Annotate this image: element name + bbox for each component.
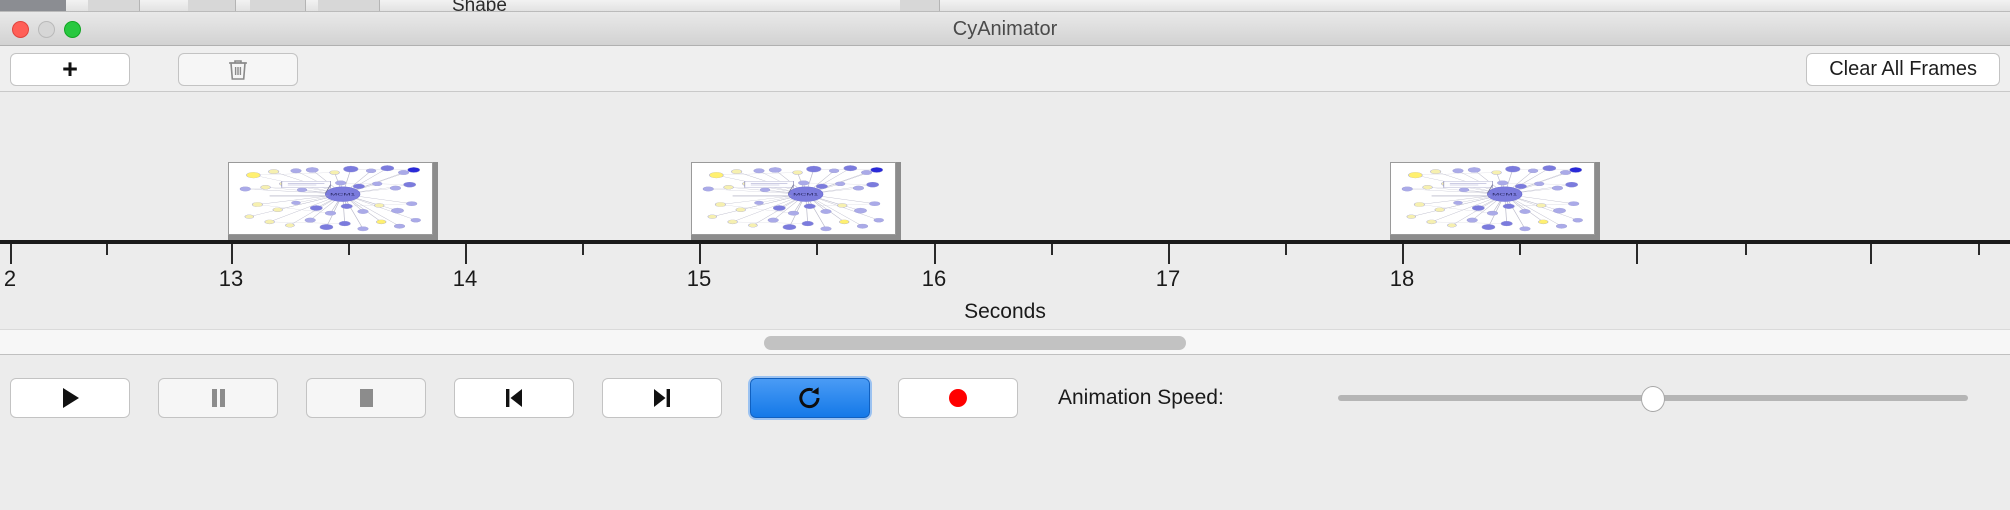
axis-title: Seconds xyxy=(0,300,2010,324)
network-graph-icon: MCM1 xyxy=(692,163,895,234)
ruler-tick-minor xyxy=(582,244,584,255)
ruler-tick-major xyxy=(1870,244,1872,264)
timeline-frame[interactable]: MCM1 xyxy=(691,162,901,240)
ruler-tick-major xyxy=(231,244,233,264)
timeline-frame[interactable]: MCM1 xyxy=(228,162,438,240)
skip-end-button[interactable] xyxy=(602,378,722,418)
time-ruler[interactable]: 2131415161718 Seconds xyxy=(0,240,2010,329)
ruler-tick-major xyxy=(1402,244,1404,264)
play-button[interactable] xyxy=(10,378,130,418)
play-icon xyxy=(57,385,83,411)
ruler-tick-major xyxy=(465,244,467,264)
background-window-label: Shape xyxy=(452,0,507,12)
svg-text:MCM1: MCM1 xyxy=(1492,193,1518,197)
window-title: CyAnimator xyxy=(0,12,2010,46)
horizontal-scrollbar[interactable] xyxy=(0,329,2010,355)
ruler-baseline xyxy=(0,240,2010,244)
ruler-tick-minor xyxy=(1285,244,1287,255)
animation-speed-slider[interactable] xyxy=(1338,378,1968,418)
add-frame-button[interactable]: + xyxy=(10,53,130,86)
network-graph-icon: MCM1 xyxy=(1391,163,1594,234)
skip-start-button[interactable] xyxy=(454,378,574,418)
animation-speed-label: Animation Speed: xyxy=(1058,378,1224,418)
frame-thumbnail: MCM1 xyxy=(691,162,896,235)
scrollbar-thumb[interactable] xyxy=(764,336,1186,350)
trash-icon xyxy=(227,58,249,82)
ruler-tick-minor xyxy=(816,244,818,255)
ruler-tick-minor xyxy=(1519,244,1521,255)
cyanimator-window: Shape CyAnimator + Clear All Frames xyxy=(0,0,2010,510)
playback-control-bar: Animation Speed: xyxy=(0,356,2010,510)
pause-icon xyxy=(205,385,231,411)
background-dark-chip xyxy=(0,0,66,12)
ruler-tick-minor xyxy=(106,244,108,255)
background-chip xyxy=(188,0,236,12)
skip-end-icon xyxy=(649,385,675,411)
background-chip xyxy=(250,0,306,12)
loop-button[interactable] xyxy=(750,378,870,418)
ruler-tick-minor xyxy=(1051,244,1053,255)
ruler-tick-major xyxy=(1168,244,1170,264)
ruler-tick-label: 2 xyxy=(4,266,16,292)
ruler-tick-major xyxy=(699,244,701,264)
ruler-tick-label: 14 xyxy=(453,266,477,292)
ruler-tick-minor xyxy=(1745,244,1747,255)
delete-frame-button[interactable] xyxy=(178,53,298,86)
record-button[interactable] xyxy=(898,378,1018,418)
ruler-tick-label: 18 xyxy=(1390,266,1414,292)
background-chip xyxy=(318,0,380,12)
ruler-tick-major xyxy=(10,244,12,264)
frames-track[interactable]: MCM1 MCM1 MCM1 xyxy=(0,92,2010,240)
ruler-tick-label: 17 xyxy=(1156,266,1180,292)
skip-start-icon xyxy=(501,385,527,411)
title-bar: CyAnimator xyxy=(0,12,2010,46)
network-graph-icon: MCM1 xyxy=(229,163,432,234)
ruler-tick-label: 13 xyxy=(219,266,243,292)
ruler-tick-major xyxy=(934,244,936,264)
background-chip xyxy=(900,0,940,12)
frame-thumbnail: MCM1 xyxy=(1390,162,1595,235)
pause-button[interactable] xyxy=(158,378,278,418)
timeline-frame[interactable]: MCM1 xyxy=(1390,162,1600,240)
ruler-tick-label: 16 xyxy=(922,266,946,292)
timeline-panel: MCM1 MCM1 MCM1 2131415161718 Seconds xyxy=(0,92,2010,329)
stop-button[interactable] xyxy=(306,378,426,418)
frame-thumbnail: MCM1 xyxy=(228,162,433,235)
background-chip xyxy=(88,0,140,12)
clear-all-frames-button[interactable]: Clear All Frames xyxy=(1806,53,2000,86)
slider-thumb[interactable] xyxy=(1641,386,1665,412)
loop-icon xyxy=(797,385,823,411)
plus-icon: + xyxy=(62,56,78,83)
ruler-tick-label: 15 xyxy=(687,266,711,292)
ruler-tick-minor xyxy=(1978,244,1980,255)
ruler-tick-major xyxy=(1636,244,1638,264)
record-icon xyxy=(945,385,971,411)
toolbar: + Clear All Frames xyxy=(0,46,2010,92)
ruler-tick-minor xyxy=(348,244,350,255)
stop-icon xyxy=(353,385,379,411)
background-window-strip: Shape xyxy=(0,0,2010,12)
svg-text:MCM1: MCM1 xyxy=(330,193,356,197)
svg-text:MCM1: MCM1 xyxy=(793,193,819,197)
